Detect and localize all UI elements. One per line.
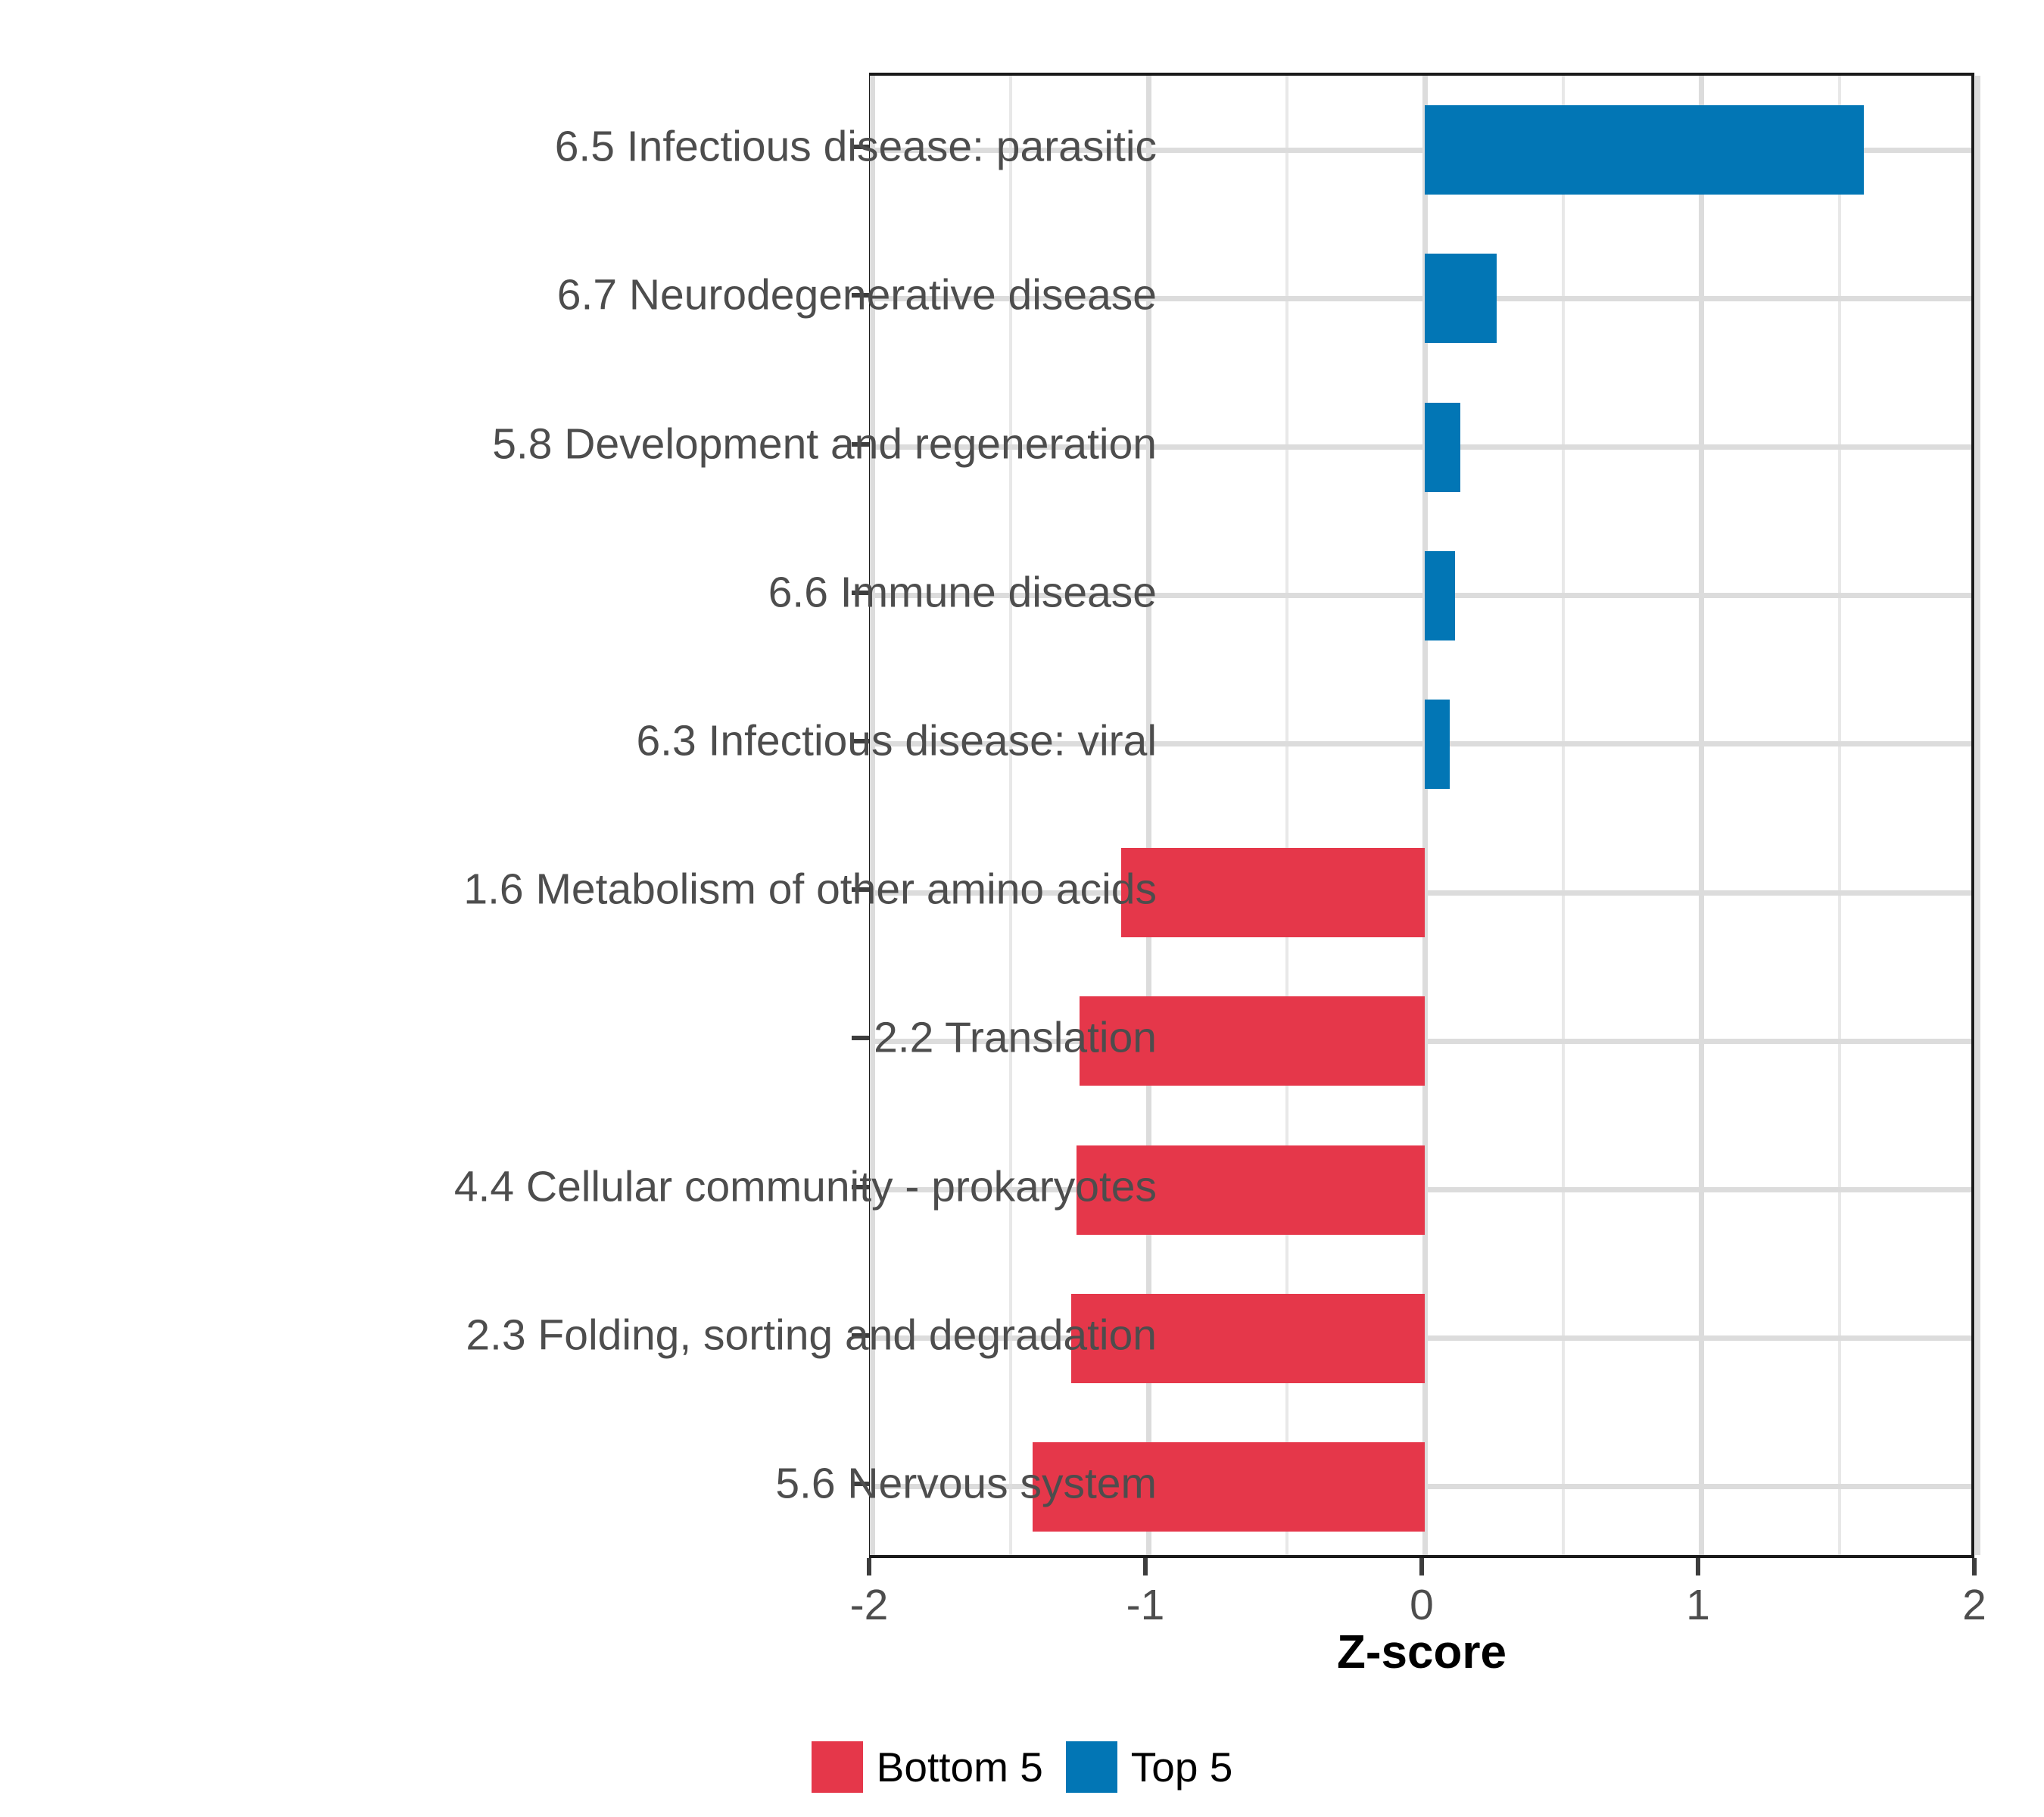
y-axis-tick-label: 5.6 Nervous system [324,1462,1157,1505]
legend-item[interactable]: Top 5 [1066,1741,1233,1793]
bar[interactable] [1425,700,1450,789]
bar[interactable] [1121,848,1426,937]
x-axis-tick-label: -2 [850,1584,889,1627]
legend-label: Top 5 [1131,1747,1233,1788]
x-axis-tick [1143,1558,1148,1575]
x-axis-tick [1419,1558,1424,1575]
x-axis-tick-label: 2 [1962,1584,1986,1627]
legend-label: Bottom 5 [877,1747,1043,1788]
x-axis-tick-label: 1 [1686,1584,1710,1627]
legend-swatch-icon [1066,1741,1117,1793]
y-axis-tick-label: 5.8 Development and regeneration [324,422,1157,466]
x-axis-tick [867,1558,871,1575]
y-axis-tick-label: 6.6 Immune disease [324,571,1157,614]
bar[interactable] [1425,551,1455,640]
y-axis-tick-label: 4.4 Cellular community - prokaryotes [324,1165,1157,1208]
y-axis-tick-label: 6.3 Infectious disease: viral [324,719,1157,762]
bar[interactable] [1425,403,1460,492]
y-axis-tick-label: 6.5 Infectious disease: parasitic [324,126,1157,169]
x-axis-title: Z-score [869,1629,1974,1676]
x-axis-tick-label: -1 [1126,1584,1165,1627]
y-axis-tick-label: 2.2 Translation [324,1017,1157,1060]
bar[interactable] [1425,254,1497,343]
y-axis-tick-label: 2.3 Folding, sorting and degradation [324,1314,1157,1357]
legend-item[interactable]: Bottom 5 [812,1741,1043,1793]
x-axis-tick [1972,1558,1977,1575]
x-axis-tick [1696,1558,1700,1575]
bar[interactable] [1425,105,1864,195]
y-axis-tick-label: 1.6 Metabolism of other amino acids [324,868,1157,912]
y-axis-tick-label: 6.7 Neurodegenerative disease [324,274,1157,317]
legend-swatch-icon [812,1741,863,1793]
zscore-bar-chart: 6.5 Infectious disease: parasitic6.7 Neu… [0,0,2044,1817]
x-axis-tick-label: 0 [1410,1584,1434,1627]
grid-line-vertical [1975,76,1980,1555]
chart-legend: Bottom 5Top 5 [0,1741,2044,1793]
